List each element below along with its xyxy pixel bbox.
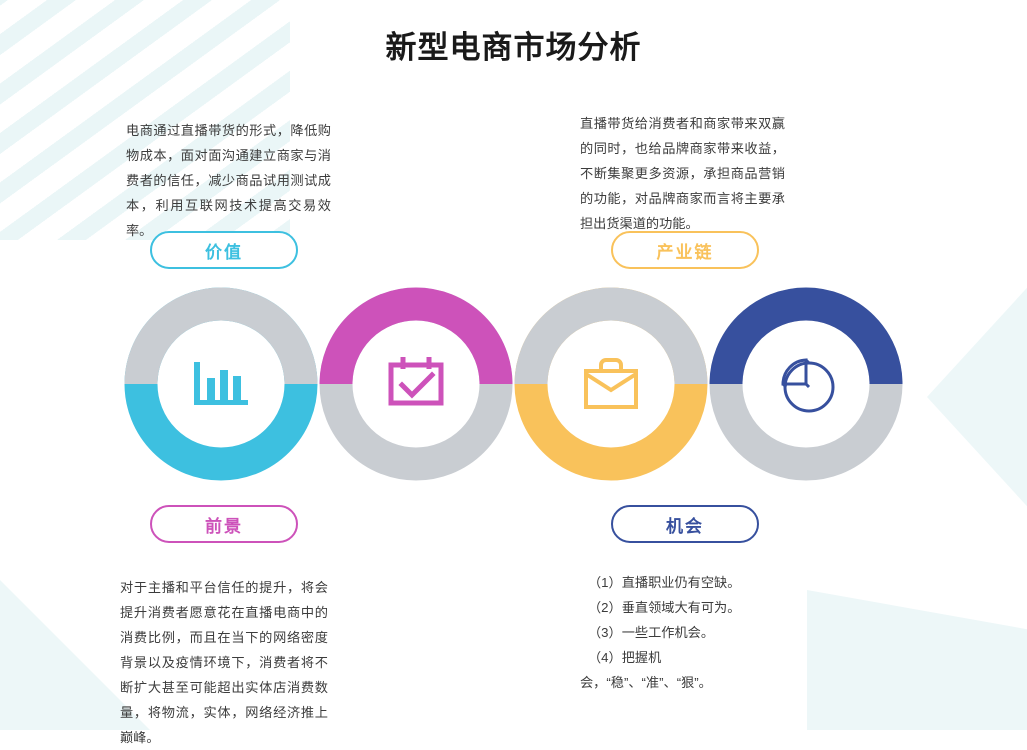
pill-chance-label: 机会 (666, 512, 704, 537)
pill-value-label: 价值 (205, 238, 243, 263)
pill-prospect[interactable]: 前景 (150, 505, 298, 543)
bar-chart-icon (123, 286, 319, 482)
pill-chance[interactable]: 机会 (611, 505, 759, 543)
ring-chance[interactable] (708, 286, 904, 482)
pill-chain-label: 产业链 (657, 238, 714, 263)
ring-prospect[interactable] (318, 286, 514, 482)
pie-chart-icon (708, 286, 904, 482)
ring-group (0, 0, 1027, 730)
pill-chain[interactable]: 产业链 (611, 231, 759, 269)
pill-prospect-label: 前景 (205, 512, 243, 537)
pill-value[interactable]: 价值 (150, 231, 298, 269)
calendar-check-icon (318, 286, 514, 482)
ring-chain[interactable] (513, 286, 709, 482)
briefcase-icon (513, 286, 709, 482)
ring-value[interactable] (123, 286, 319, 482)
